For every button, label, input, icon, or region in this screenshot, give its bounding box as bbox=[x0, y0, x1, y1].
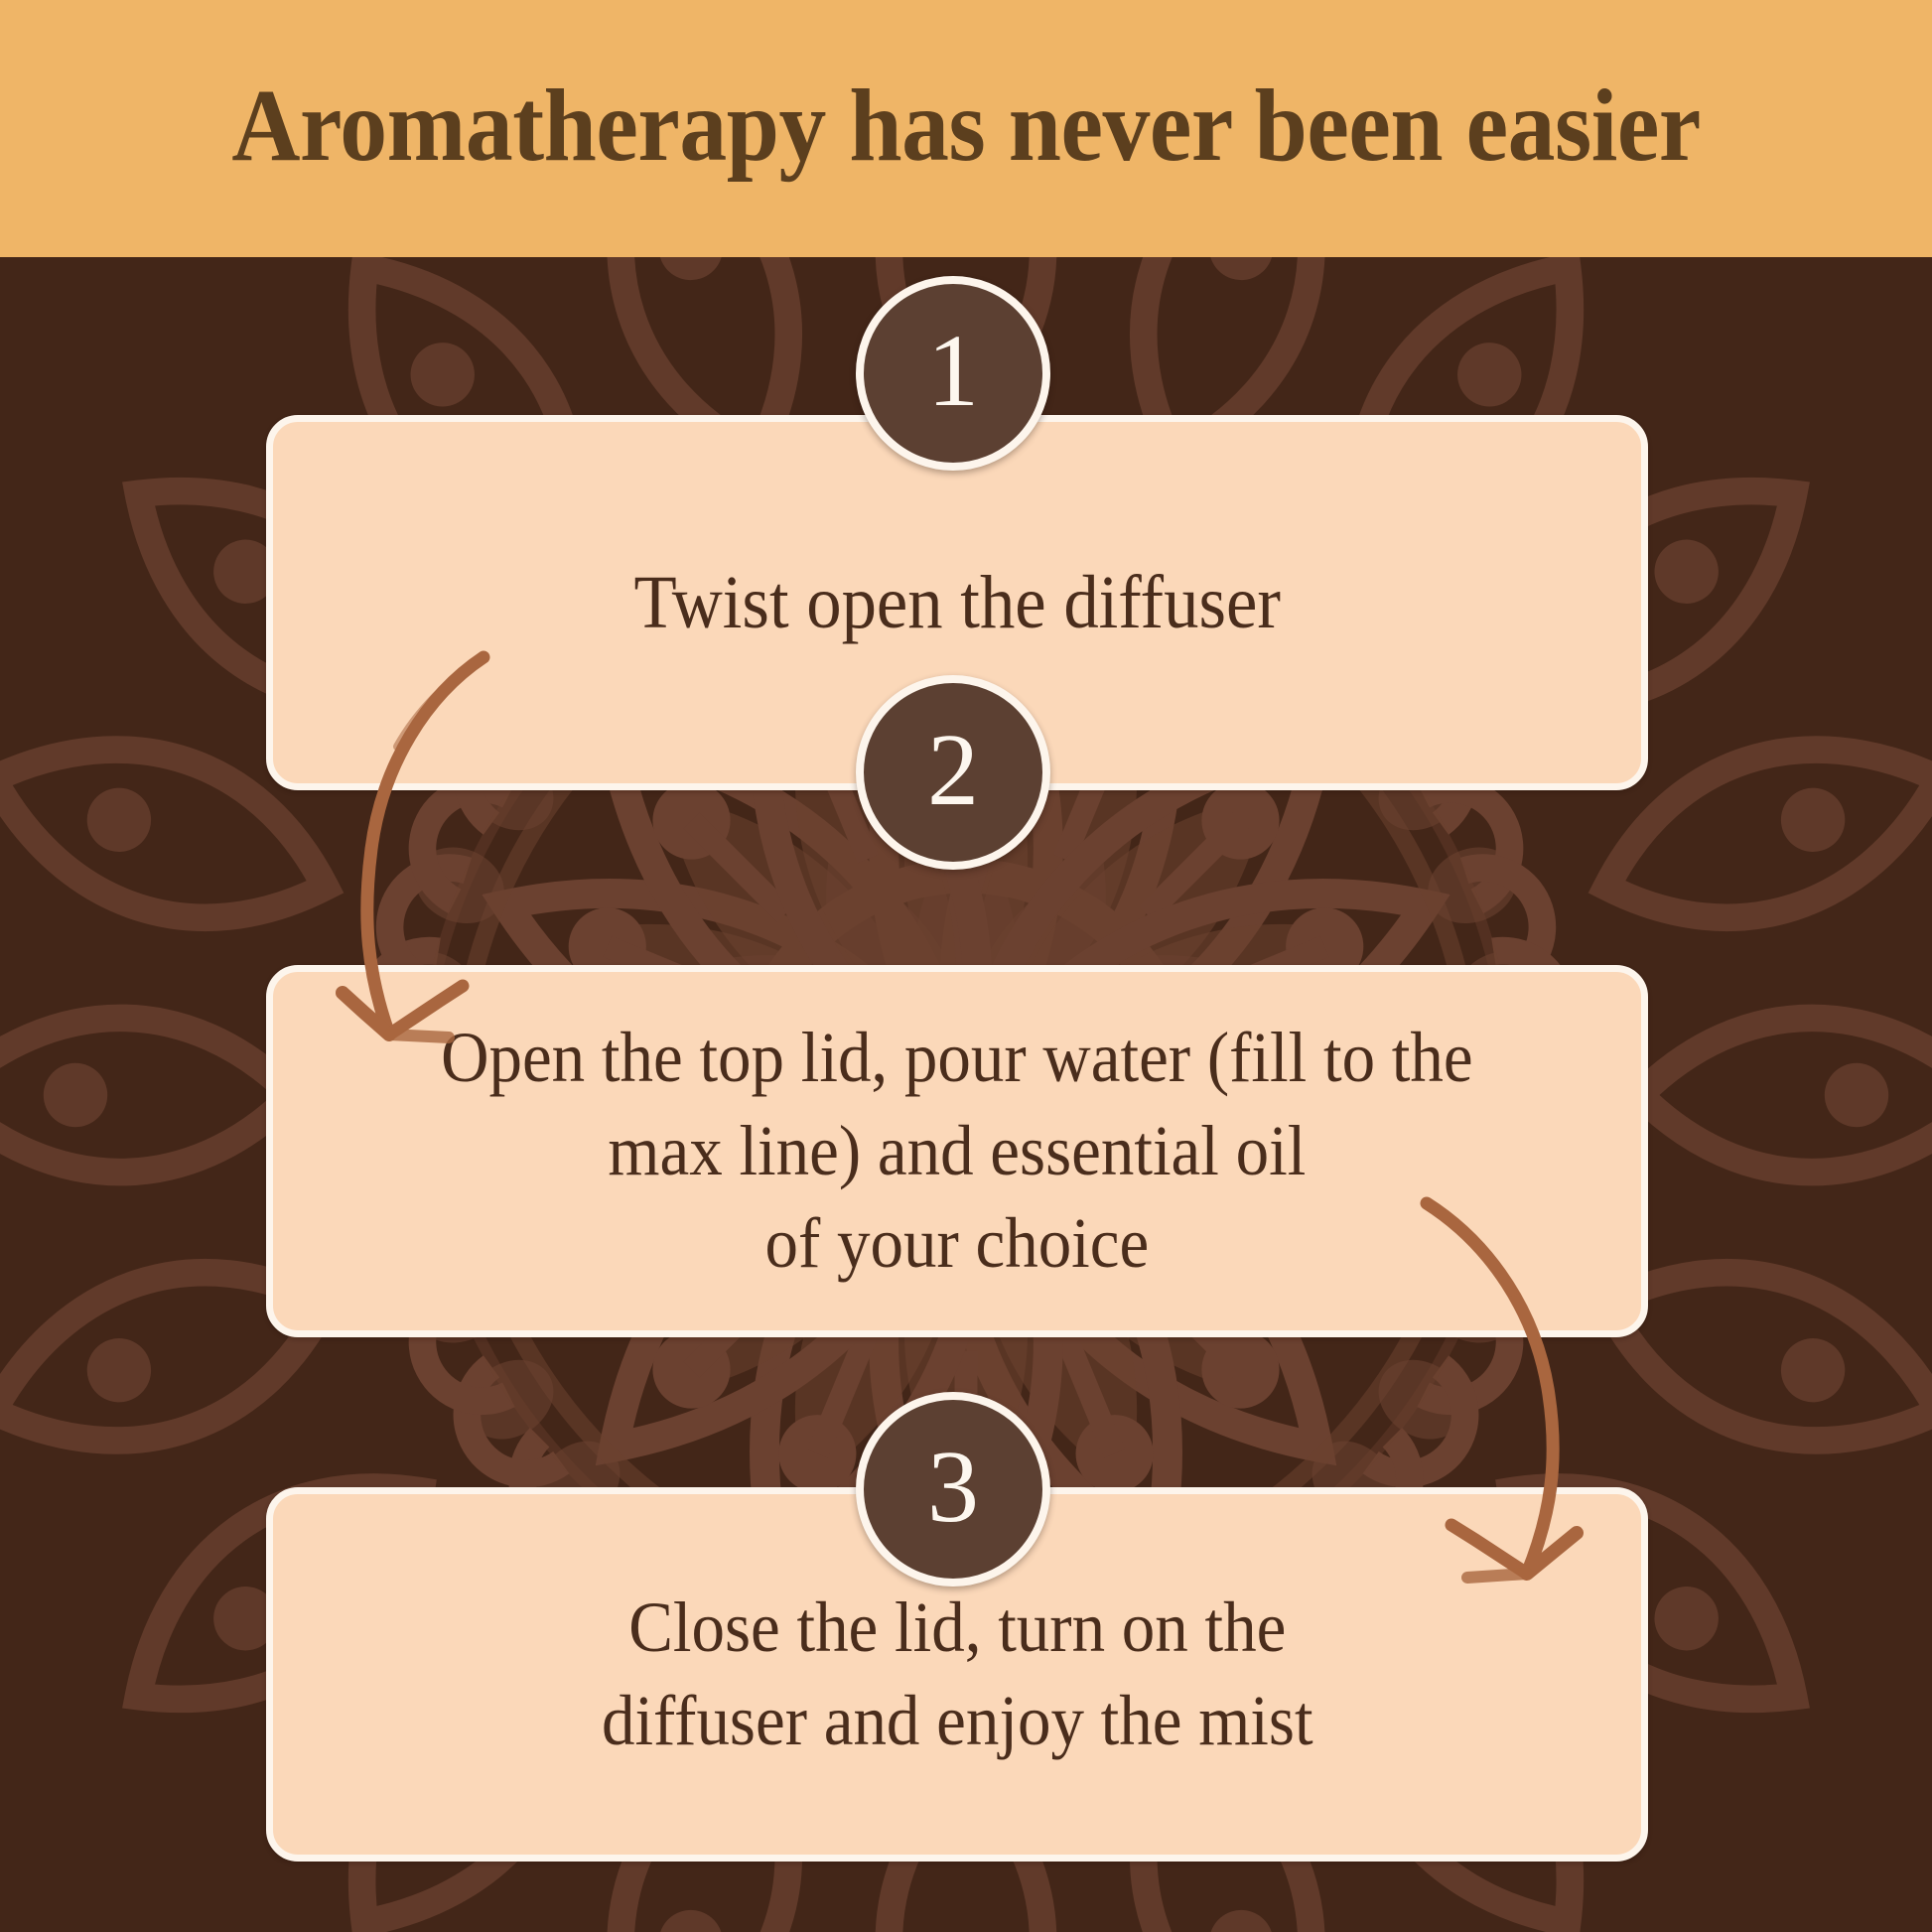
header-banner: Aromatherapy has never been easier bbox=[0, 0, 1932, 257]
step-3-text: Close the lid, turn on the diffuser and … bbox=[551, 1582, 1362, 1767]
page-title: Aromatherapy has never been easier bbox=[231, 74, 1701, 184]
step-1-badge: 1 bbox=[856, 276, 1050, 471]
step-2-line-3: of your choice bbox=[765, 1203, 1150, 1283]
step-2-card[interactable]: Open the top lid, pour water (fill to th… bbox=[266, 965, 1648, 1337]
step-3-line-1: Close the lid, turn on the bbox=[628, 1587, 1286, 1667]
step-1-text: Twist open the diffuser bbox=[584, 554, 1330, 652]
step-1-number: 1 bbox=[927, 320, 979, 423]
step-1-line-1: Twist open the diffuser bbox=[633, 561, 1280, 644]
steps-container: Twist open the diffuser 1 Open the top l… bbox=[0, 0, 1932, 1932]
step-2-line-1: Open the top lid, pour water (fill to th… bbox=[441, 1018, 1472, 1097]
step-2-text: Open the top lid, pour water (fill to th… bbox=[391, 1012, 1523, 1291]
step-3-number: 3 bbox=[927, 1436, 979, 1539]
infographic-poster: Aromatherapy has never been easier Twist… bbox=[0, 0, 1932, 1932]
step-2-badge: 2 bbox=[856, 675, 1050, 870]
step-3-line-2: diffuser and enjoy the mist bbox=[602, 1681, 1313, 1760]
step-2-line-2: max line) and essential oil bbox=[609, 1111, 1307, 1190]
step-2-number: 2 bbox=[927, 719, 979, 822]
step-3-badge: 3 bbox=[856, 1392, 1050, 1587]
